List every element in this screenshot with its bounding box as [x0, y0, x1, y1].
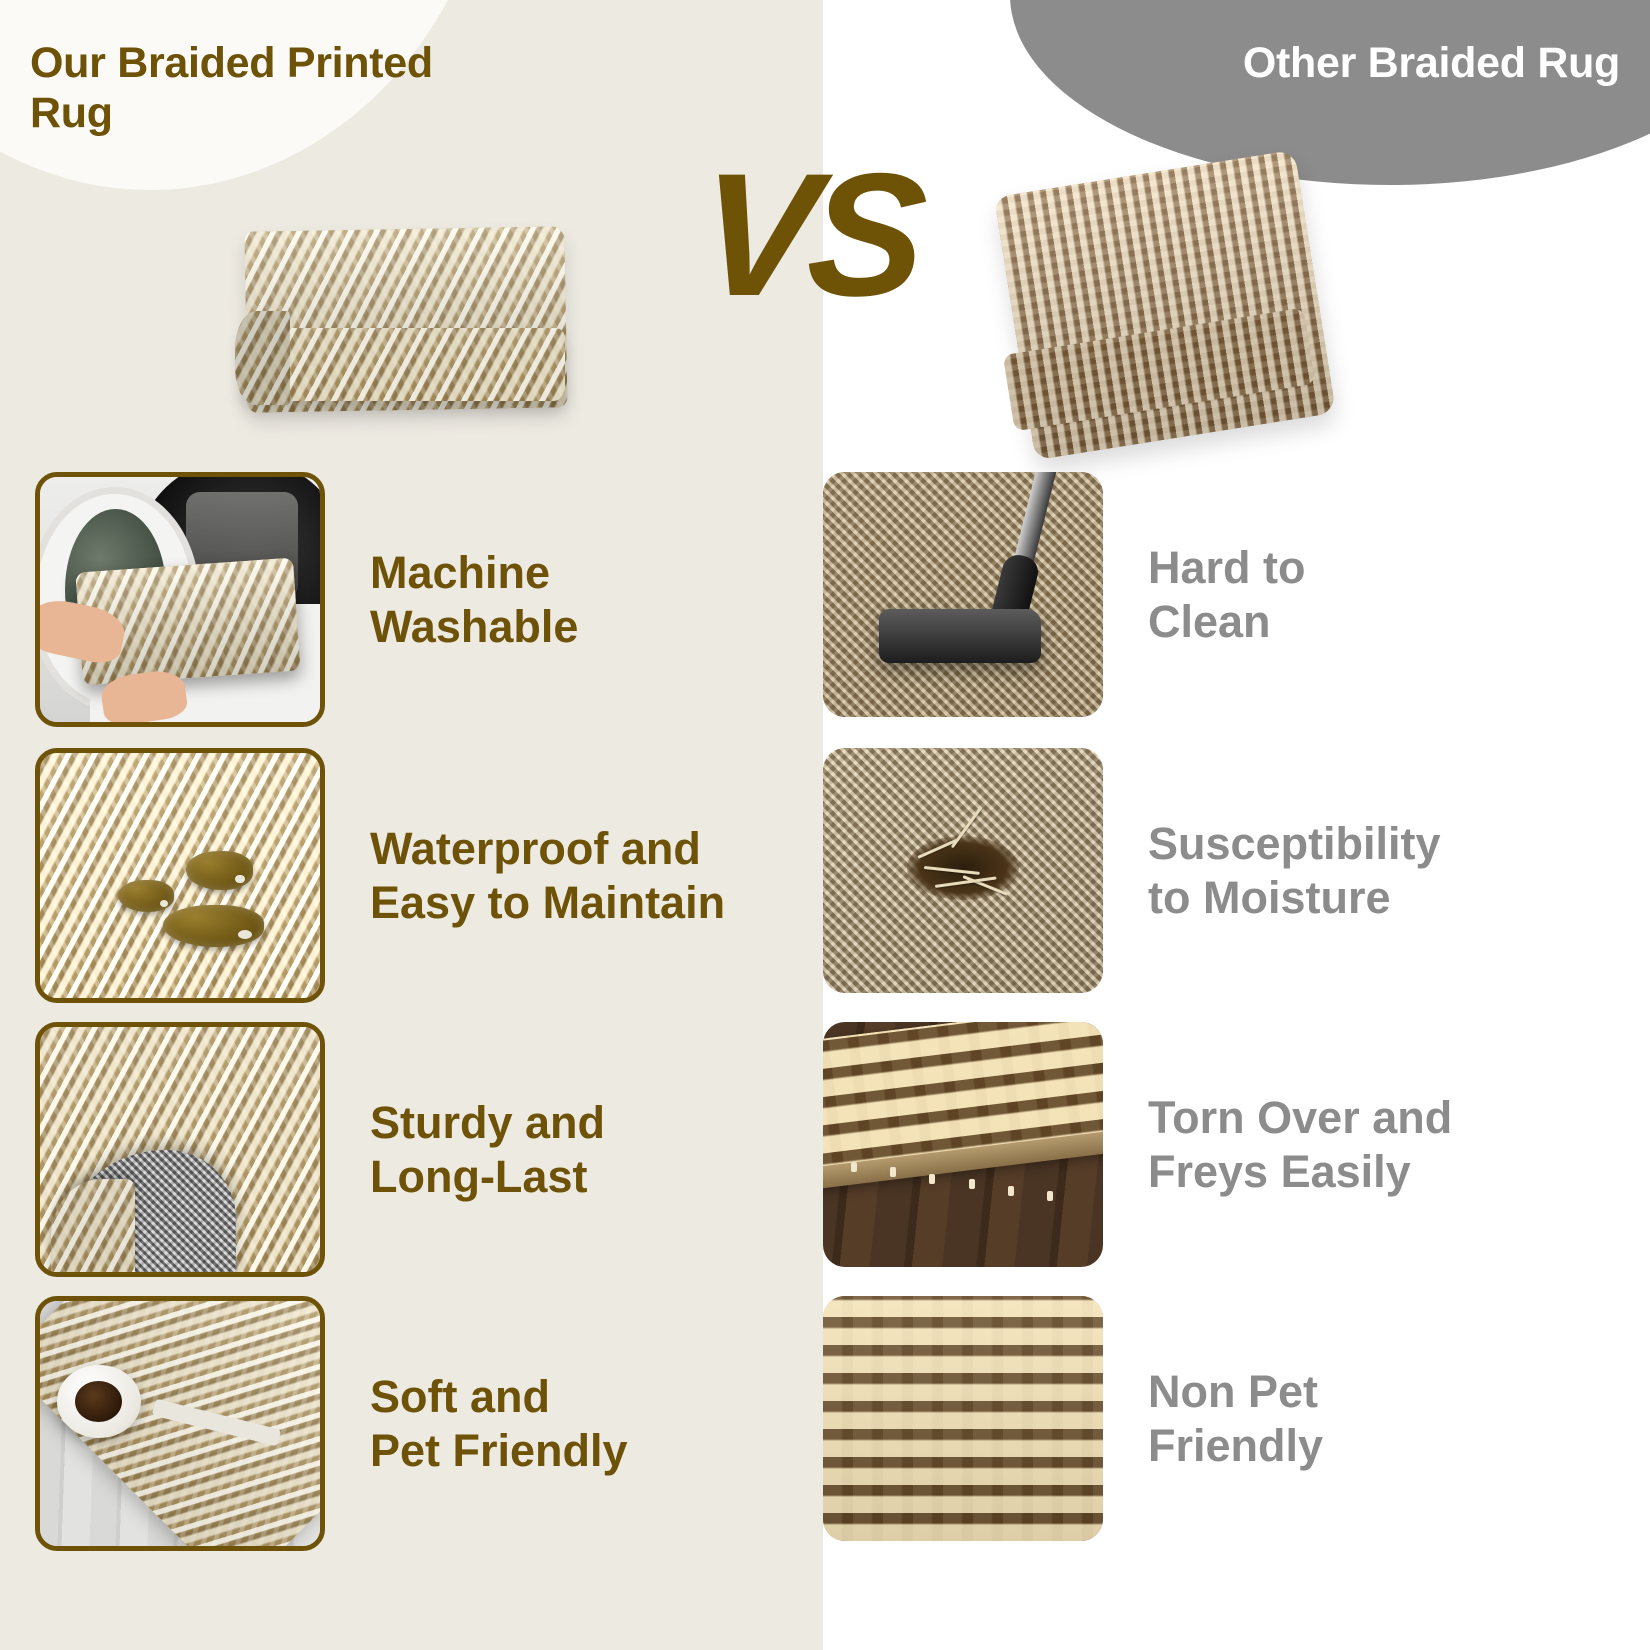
bad-feature-label: Torn Over and Freys Easily [1148, 1091, 1452, 1199]
bad-image-moisture-damage [823, 748, 1103, 993]
left-column-title: Our Braided Printed Rug [30, 38, 460, 139]
comparison-row: Susceptibility to Moisture [823, 748, 1441, 993]
versus-label: VS [694, 148, 924, 323]
right-hero-image [1000, 160, 1330, 455]
good-feature-label: Sturdy and Long-Last [370, 1096, 605, 1204]
comparison-row: Machine Washable [35, 472, 578, 727]
bad-feature-label: Susceptibility to Moisture [1148, 817, 1441, 925]
good-feature-label: Waterproof and Easy to Maintain [370, 822, 725, 930]
comparison-row: Waterproof and Easy to Maintain [35, 748, 725, 1003]
comparison-row: Torn Over and Freys Easily [823, 1022, 1452, 1267]
good-image-waterproof [35, 748, 325, 1003]
good-image-sturdy-backing [35, 1022, 325, 1277]
good-image-machine-washable [35, 472, 325, 727]
comparison-infographic: Our Braided Printed Rug Other Braided Ru… [0, 0, 1650, 1650]
bad-image-hard-to-clean [823, 472, 1103, 717]
good-image-soft-pet-friendly [35, 1296, 325, 1551]
good-feature-label: Machine Washable [370, 546, 578, 654]
bad-image-non-pet-friendly [823, 1296, 1103, 1541]
right-column-title: Other Braided Rug [1190, 38, 1620, 88]
bad-image-torn-frayed-edge [823, 1022, 1103, 1267]
comparison-row: Non Pet Friendly [823, 1296, 1323, 1541]
comparison-row: Hard to Clean [823, 472, 1306, 717]
comparison-row: Soft and Pet Friendly [35, 1296, 628, 1551]
comparison-row: Sturdy and Long-Last [35, 1022, 605, 1277]
left-hero-image [232, 216, 572, 431]
good-feature-label: Soft and Pet Friendly [370, 1370, 628, 1478]
bad-feature-label: Hard to Clean [1148, 541, 1306, 649]
bad-feature-label: Non Pet Friendly [1148, 1365, 1323, 1473]
